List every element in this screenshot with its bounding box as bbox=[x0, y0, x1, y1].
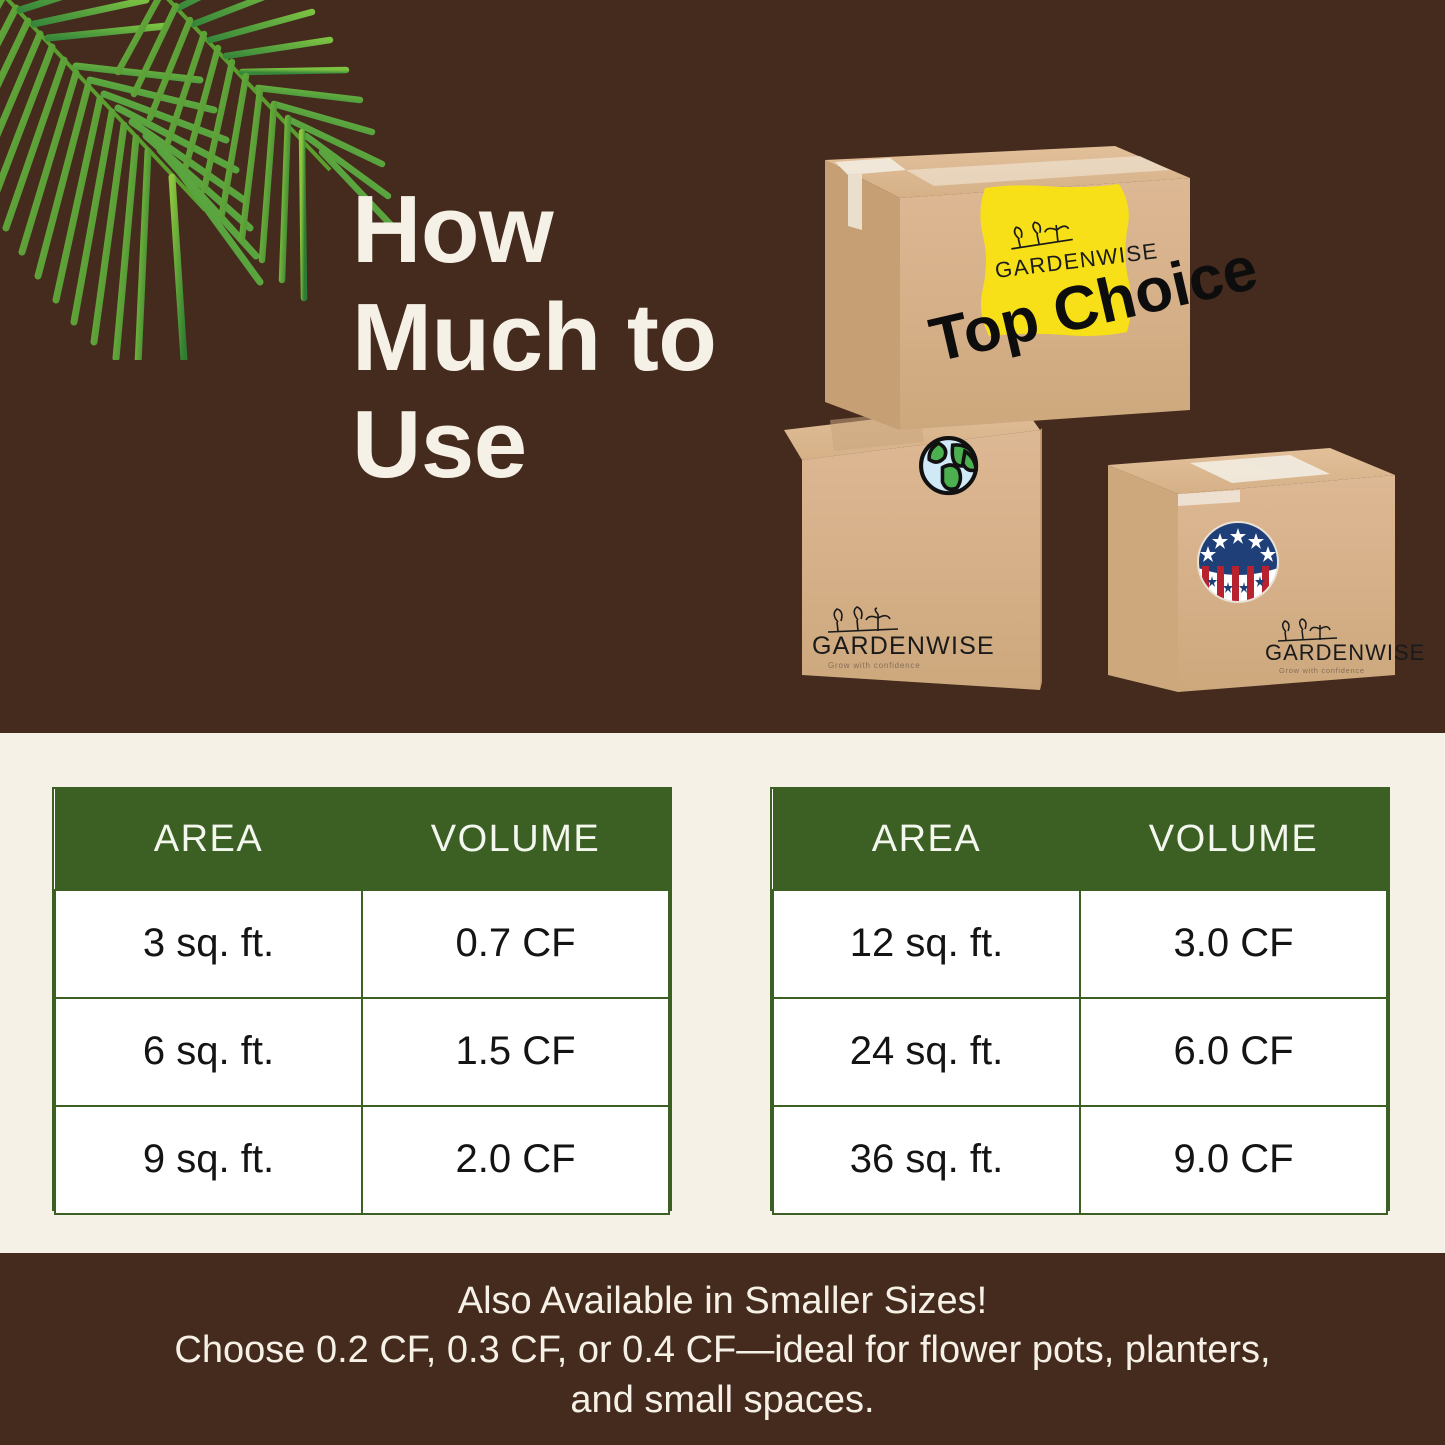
cell-area: 12 sq. ft. bbox=[773, 890, 1080, 998]
usage-tables: AREA VOLUME 3 sq. ft. 0.7 CF 6 sq. ft. 1… bbox=[0, 733, 1445, 1253]
cell-volume: 3.0 CF bbox=[1080, 890, 1387, 998]
usage-table-small: AREA VOLUME 3 sq. ft. 0.7 CF 6 sq. ft. 1… bbox=[52, 787, 672, 1211]
svg-text:GARDENWISE: GARDENWISE bbox=[1265, 640, 1425, 665]
cell-area: 36 sq. ft. bbox=[773, 1106, 1080, 1214]
table-row: 12 sq. ft. 3.0 CF bbox=[773, 890, 1387, 998]
column-header-area: AREA bbox=[55, 790, 362, 890]
footer-note: Also Available in Smaller Sizes! Choose … bbox=[0, 1277, 1445, 1425]
column-header-area: AREA bbox=[773, 790, 1080, 890]
cell-volume: 1.5 CF bbox=[362, 998, 669, 1106]
cell-volume: 2.0 CF bbox=[362, 1106, 669, 1214]
cell-area: 6 sq. ft. bbox=[55, 998, 362, 1106]
box-bottom-left: GARDENWISE Grow with confidence bbox=[784, 402, 1042, 690]
table-row: 9 sq. ft. 2.0 CF bbox=[55, 1106, 669, 1214]
table-header-row: AREA VOLUME bbox=[55, 790, 669, 890]
infographic-page: How Much to Use bbox=[0, 0, 1445, 1445]
table-row: 24 sq. ft. 6.0 CF bbox=[773, 998, 1387, 1106]
column-header-volume: VOLUME bbox=[1080, 790, 1387, 890]
usage-table-large: AREA VOLUME 12 sq. ft. 3.0 CF 24 sq. ft.… bbox=[770, 787, 1390, 1211]
table-row: 3 sq. ft. 0.7 CF bbox=[55, 890, 669, 998]
title-line-1: How bbox=[352, 176, 732, 284]
box-top: GARDENWISE Top Choice bbox=[825, 146, 1264, 430]
title-line-3: Use bbox=[352, 391, 732, 499]
cell-area: 9 sq. ft. bbox=[55, 1106, 362, 1214]
cell-area: 3 sq. ft. bbox=[55, 890, 362, 998]
cell-volume: 0.7 CF bbox=[362, 890, 669, 998]
table-header-row: AREA VOLUME bbox=[773, 790, 1387, 890]
cell-volume: 9.0 CF bbox=[1080, 1106, 1387, 1214]
footer-line-1: Also Available in Smaller Sizes! bbox=[0, 1277, 1445, 1326]
page-title: How Much to Use bbox=[352, 176, 732, 499]
table-row: 6 sq. ft. 1.5 CF bbox=[55, 998, 669, 1106]
table-row: 36 sq. ft. 9.0 CF bbox=[773, 1106, 1387, 1214]
box-right: GARDENWISE Grow with confidence bbox=[1108, 448, 1425, 692]
title-line-2: Much to bbox=[352, 284, 732, 392]
svg-text:Grow with confidence: Grow with confidence bbox=[1279, 666, 1365, 675]
cell-volume: 6.0 CF bbox=[1080, 998, 1387, 1106]
footer-line-3: and small spaces. bbox=[0, 1376, 1445, 1425]
svg-text:GARDENWISE: GARDENWISE bbox=[812, 632, 995, 660]
footer-line-2: Choose 0.2 CF, 0.3 CF, or 0.4 CF—ideal f… bbox=[0, 1326, 1445, 1375]
svg-text:Grow with confidence: Grow with confidence bbox=[828, 661, 920, 670]
cell-area: 24 sq. ft. bbox=[773, 998, 1080, 1106]
product-box-illustration: GARDENWISE Grow with confidence bbox=[770, 130, 1430, 700]
column-header-volume: VOLUME bbox=[362, 790, 669, 890]
